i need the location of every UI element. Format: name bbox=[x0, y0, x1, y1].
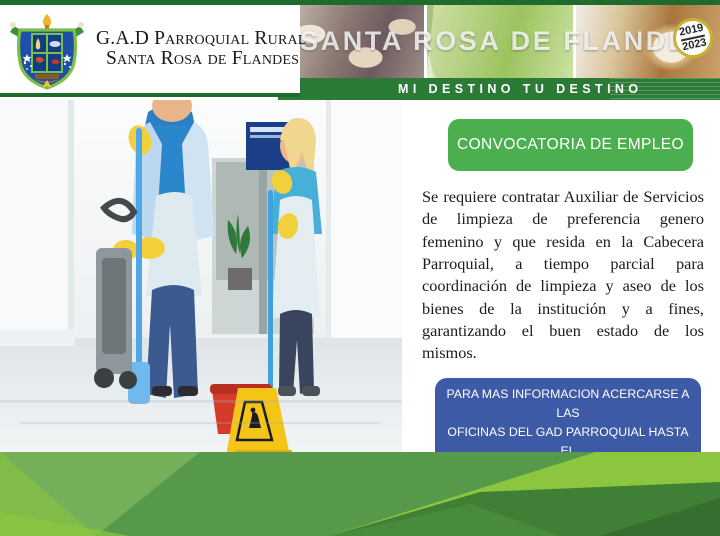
badge-year-end: 2023 bbox=[681, 37, 707, 53]
cleaning-staff-photo bbox=[0, 100, 402, 456]
announcement-panel: CONVOCATORIA DE EMPLEO Se requiere contr… bbox=[402, 100, 720, 456]
convocatoria-banner[interactable]: CONVOCATORIA DE EMPLEO bbox=[448, 119, 693, 171]
coat-of-arms-shield-icon bbox=[4, 8, 90, 90]
banner-title: SANTA ROSA DE FLANDES bbox=[300, 26, 700, 60]
announcement-body: Se requiere contratar Auxiliar de Servic… bbox=[422, 186, 704, 365]
poster-header: SANTA ROSA DE FLANDES 2019 2023 MI DESTI… bbox=[0, 0, 720, 100]
low-poly-green-footer bbox=[0, 452, 720, 536]
slogan-text: MI DESTINO TU DESTINO bbox=[398, 82, 643, 96]
org-name-line-1: G.A.D Parroquial Rural bbox=[96, 29, 307, 49]
header-left-rule bbox=[0, 93, 300, 97]
slogan-bar-stripes bbox=[610, 78, 720, 100]
employment-announcement-poster: SANTA ROSA DE FLANDES 2019 2023 MI DESTI… bbox=[0, 0, 720, 536]
info-line-1: PARA MAS INFORMACION ACERCARSE A LAS bbox=[443, 385, 693, 423]
slogan-bar: MI DESTINO TU DESTINO bbox=[278, 78, 720, 100]
convocatoria-label: CONVOCATORIA DE EMPLEO bbox=[457, 136, 684, 154]
org-wordmark: G.A.D Parroquial Rural Santa Rosa de Fla… bbox=[96, 29, 307, 70]
org-name-line-2: Santa Rosa de Flandes bbox=[106, 49, 307, 69]
header-brand: G.A.D Parroquial Rural Santa Rosa de Fla… bbox=[0, 5, 300, 93]
